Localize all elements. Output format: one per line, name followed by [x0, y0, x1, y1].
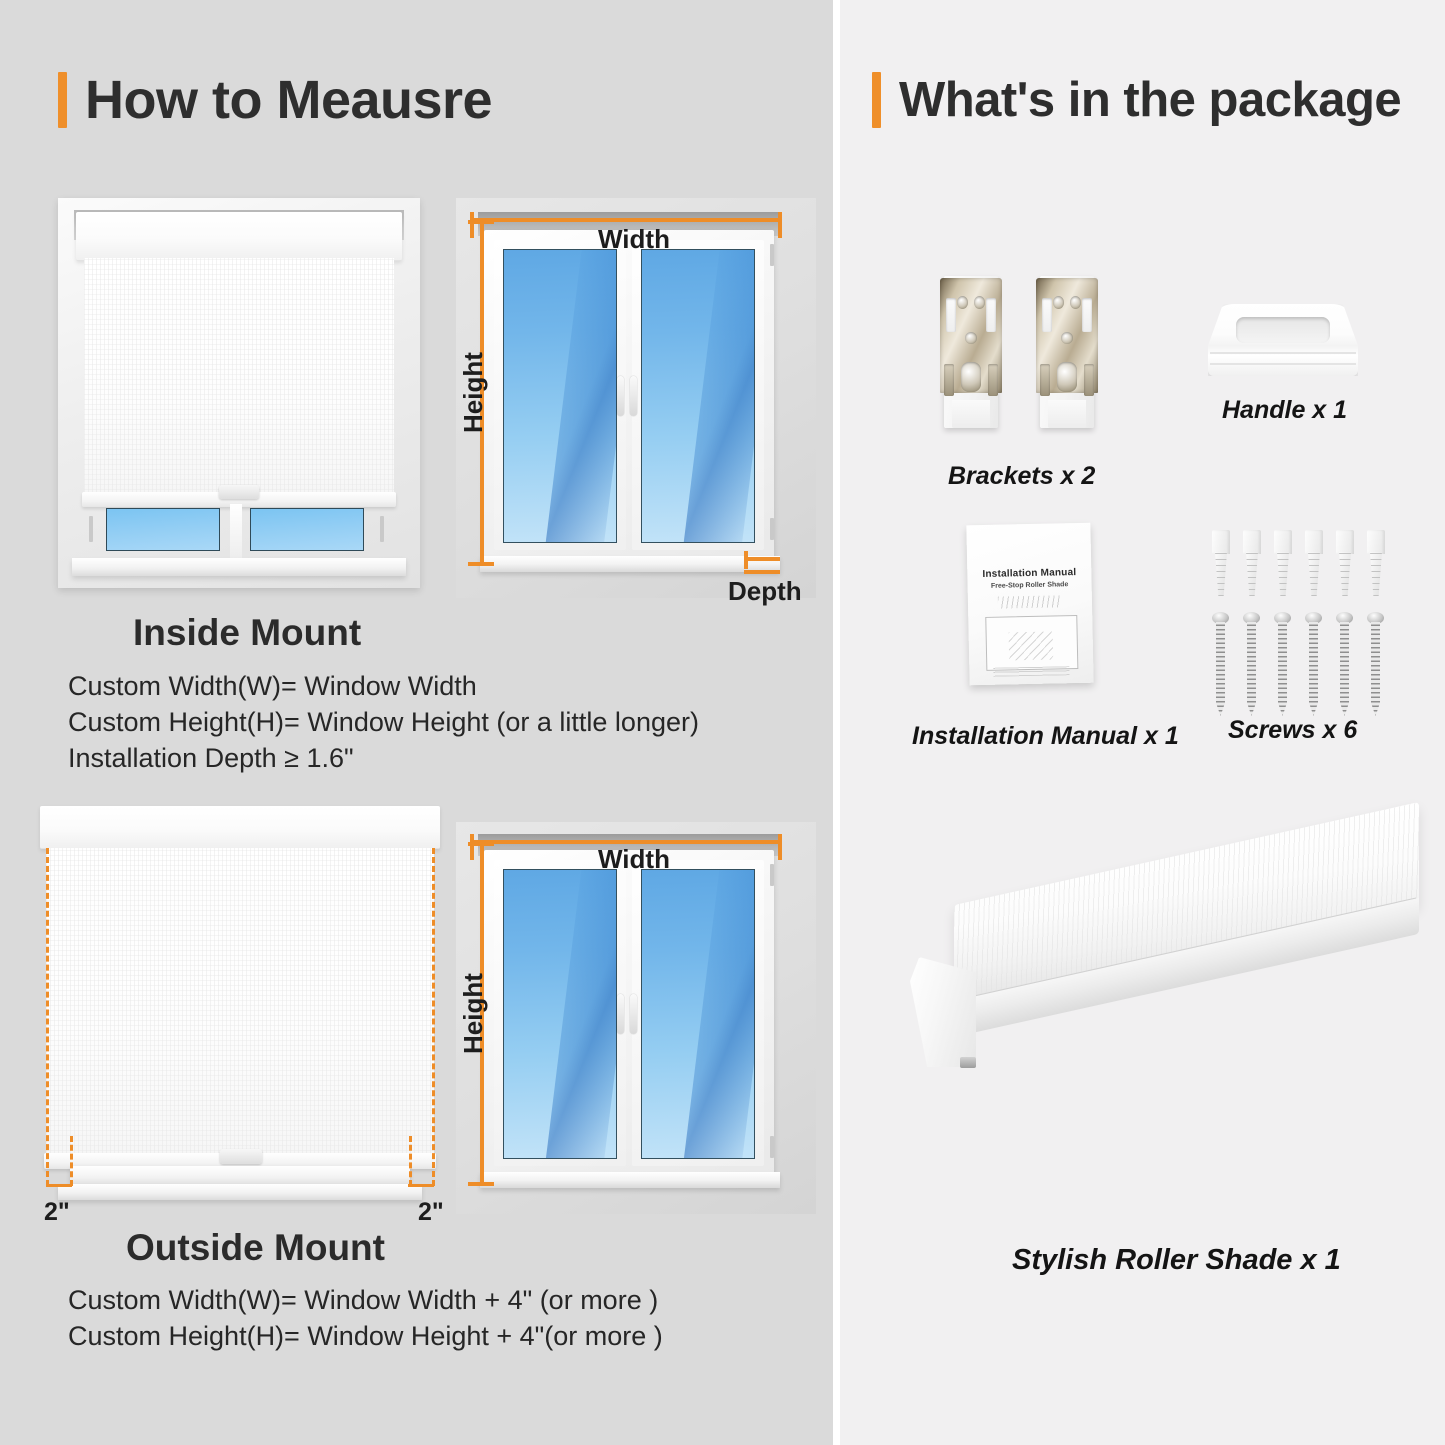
bracket-slot-left — [944, 364, 954, 396]
anchor-head — [1274, 530, 1292, 554]
overhang-right-label: 2" — [418, 1198, 444, 1227]
screw-shaft — [1371, 622, 1380, 716]
anchor-body — [1308, 552, 1320, 596]
accent-bar-icon — [58, 72, 67, 128]
anchor-body — [1215, 552, 1227, 596]
wall-anchor-icon — [1305, 530, 1323, 596]
manual-icon: Installation Manual Free-Stop Roller Sha… — [966, 523, 1093, 686]
diagram2-handle-left — [617, 994, 624, 1034]
inside-mount-measure-diagram: Width Height Depth — [456, 198, 816, 598]
handle-icon — [1208, 304, 1358, 376]
window-glass-left — [106, 508, 220, 551]
width-measure-cap-left — [470, 212, 474, 238]
manual-cover-diagram-art — [1009, 632, 1054, 661]
diagram-sill — [480, 556, 780, 572]
overhang-dash-right-inner — [409, 1136, 412, 1186]
handle-label: Handle x 1 — [1222, 396, 1347, 425]
outside-mount-shade-illustration — [34, 806, 446, 1206]
outside-shade-fabric — [46, 848, 434, 1156]
roller-shade-label: Stylish Roller Shade x 1 — [1012, 1244, 1341, 1277]
bracket-cutout-right — [1082, 298, 1092, 332]
bracket-cutout-left — [946, 298, 956, 332]
roller-shade-end-cap — [910, 957, 976, 1067]
bracket-icon — [1034, 276, 1100, 428]
shade-pull-grip — [219, 485, 259, 499]
screw-icon — [1367, 612, 1384, 716]
diagram-hinge-bottom — [770, 518, 774, 540]
diagram2-glass-left — [503, 869, 617, 1159]
screw-shaft — [1216, 622, 1225, 716]
screw-icon — [1212, 612, 1229, 716]
wall-anchor-icon — [1336, 530, 1354, 596]
outside-shade-pull-grip — [220, 1149, 262, 1164]
window-glass-right — [250, 508, 364, 551]
anchor-body — [1277, 552, 1289, 596]
anchor-head — [1305, 530, 1323, 554]
inside-mount-line-3: Installation Depth ≥ 1.6" — [68, 743, 354, 774]
roller-shade-pin — [960, 1057, 976, 1068]
wall-anchor-icon — [1212, 530, 1230, 596]
bracket-hole-b — [1070, 296, 1081, 309]
diagram-glass-right — [641, 249, 755, 543]
panel-divider — [833, 0, 840, 1445]
anchor-head — [1336, 530, 1354, 554]
handle-slot — [1236, 317, 1330, 343]
height-measure-cap-top — [468, 220, 494, 224]
wall-anchor-icon — [1367, 530, 1385, 596]
screw-icon — [1274, 612, 1291, 716]
bracket-slot-right — [1084, 364, 1094, 396]
how-to-measure-heading-text: How to Meausre — [85, 73, 492, 127]
diagram2-hinge-bottom — [770, 1136, 774, 1158]
diagram2-handle-right — [630, 994, 637, 1034]
shade-headrail — [76, 212, 402, 261]
anchor-body — [1370, 552, 1382, 596]
outside-mount-line-1: Custom Width(W)= Window Width + 4" (or m… — [68, 1285, 658, 1316]
anchor-body — [1246, 552, 1258, 596]
width-measure-line — [470, 218, 782, 222]
width2-measure-cap-left — [470, 834, 474, 860]
diagram-handle-left — [617, 376, 624, 416]
diagram2-glass-right — [641, 869, 755, 1159]
outside-mount-measure-diagram: Width Height — [456, 822, 816, 1214]
screw-icon — [1305, 612, 1322, 716]
diagram2-sill — [480, 1172, 780, 1188]
diagram-glass-left — [503, 249, 617, 543]
brackets-label: Brackets x 2 — [948, 462, 1095, 491]
manual-cover-title: Installation Manual — [967, 567, 1091, 581]
anchor-head — [1212, 530, 1230, 554]
bracket-hole-a — [957, 296, 968, 309]
depth-label: Depth — [728, 576, 802, 607]
anchor-head — [1243, 530, 1261, 554]
height2-measure-cap-top — [468, 842, 494, 846]
screw-shaft — [1247, 622, 1256, 716]
manual-label: Installation Manual x 1 — [912, 722, 1179, 751]
roller-shade-icon — [910, 905, 1430, 1135]
accent-bar-icon-right — [872, 72, 881, 128]
screw-icon — [1336, 612, 1353, 716]
overhang-arrow-left — [46, 1184, 72, 1187]
inside-mount-line-1: Custom Width(W)= Window Width — [68, 671, 477, 702]
screw-shaft — [1340, 622, 1349, 716]
height2-label: Height — [458, 973, 489, 1054]
depth-measure-line — [744, 557, 780, 561]
overhang-dash-right — [432, 848, 435, 1186]
overhang-dash-left — [46, 848, 49, 1186]
manual-cover-subtitle: Free-Stop Roller Shade — [968, 581, 1092, 591]
screw-shaft — [1309, 622, 1318, 716]
outside-window-sill — [58, 1184, 422, 1200]
screw-shaft — [1278, 622, 1287, 716]
window-hinge-left — [89, 516, 93, 542]
outside-mount-title: Outside Mount — [126, 1227, 385, 1269]
bracket-hole-a — [1053, 296, 1064, 309]
bracket-hole-c — [1061, 332, 1073, 344]
overhang-arrow-right — [408, 1184, 434, 1187]
manual-cover-scribble — [998, 595, 1060, 608]
bracket-hole-c — [965, 332, 977, 344]
anchor-head — [1367, 530, 1385, 554]
infographic-page: How to Meausre Width — [0, 0, 1445, 1445]
diagram-handle-right — [630, 376, 637, 416]
overhang-dash-left-inner — [70, 1136, 73, 1186]
bracket-slot-right — [988, 364, 998, 396]
shade-fabric — [84, 258, 394, 495]
overhang-left-label: 2" — [44, 1198, 70, 1227]
depth-measure-line2 — [744, 570, 780, 574]
window-hinge-right — [380, 516, 384, 542]
bracket-slot-left — [1040, 364, 1050, 396]
anchor-body — [1339, 552, 1351, 596]
inside-mount-shade-illustration — [58, 198, 420, 588]
bracket-tab — [952, 400, 990, 428]
handle-ridge-2 — [1210, 363, 1356, 365]
diagram2-hinge-top — [770, 864, 774, 886]
bracket-cutout-right — [986, 298, 996, 332]
bracket-tab — [1048, 400, 1086, 428]
bracket-center-hole — [961, 362, 981, 392]
height-measure-cap-bottom — [468, 562, 494, 566]
handle-ridge-1 — [1210, 352, 1356, 354]
outside-shade-headrail — [40, 806, 440, 849]
bracket-center-hole — [1057, 362, 1077, 392]
bracket-icon — [938, 276, 1004, 428]
bracket-hole-b — [974, 296, 985, 309]
wall-anchor-icon — [1243, 530, 1261, 596]
width2-measure-cap-right — [778, 834, 782, 860]
diagram-hinge-top — [770, 244, 774, 266]
height-label: Height — [458, 352, 489, 433]
inside-mount-title: Inside Mount — [133, 612, 361, 654]
manual-cover-footer-text — [993, 666, 1069, 677]
wall-anchor-icon — [1274, 530, 1292, 596]
width-label: Width — [598, 224, 670, 255]
screw-icon — [1243, 612, 1260, 716]
package-heading-text: What's in the package — [899, 76, 1401, 125]
inside-mount-line-2: Custom Height(H)= Window Height (or a li… — [68, 707, 699, 738]
window-mullion — [230, 504, 242, 566]
width-measure-cap-right — [778, 212, 782, 238]
outside-mount-line-2: Custom Height(H)= Window Height + 4"(or … — [68, 1321, 663, 1352]
screws-label: Screws x 6 — [1228, 716, 1357, 745]
width2-label: Width — [598, 844, 670, 875]
window-sill — [72, 558, 406, 576]
package-heading: What's in the package — [872, 72, 1401, 128]
height2-measure-cap-bottom — [468, 1182, 494, 1186]
depth-measure-cap — [744, 551, 748, 569]
bracket-cutout-left — [1042, 298, 1052, 332]
how-to-measure-heading: How to Meausre — [58, 72, 492, 128]
